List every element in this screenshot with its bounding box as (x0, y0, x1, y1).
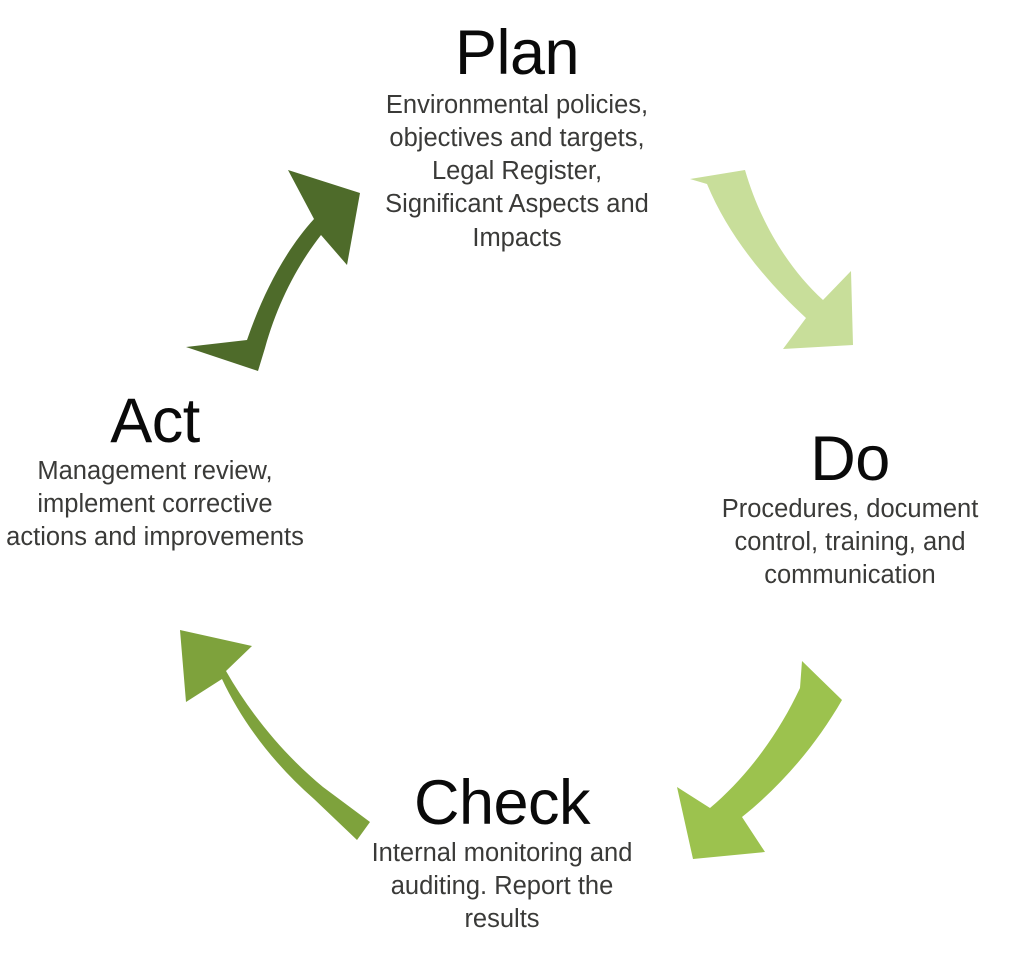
stage-do: Do Procedures, document control, trainin… (700, 428, 1000, 592)
stage-act-title: Act (6, 390, 304, 453)
stage-check-description: Internal monitoring and auditing. Report… (352, 837, 652, 936)
stage-do-title: Do (700, 428, 1000, 491)
stage-check-title: Check (352, 772, 652, 835)
arrow-act-to-plan (186, 170, 360, 371)
stage-act: Act Management review, implement correct… (6, 390, 304, 554)
arrow-do-to-check (677, 661, 842, 859)
stage-do-description: Procedures, document control, training, … (700, 493, 1000, 592)
arrow-plan-to-do (690, 170, 853, 349)
stage-plan-description: Environmental policies, objectives and t… (372, 89, 662, 255)
stage-act-description: Management review, implement corrective … (6, 455, 304, 554)
stage-plan-title: Plan (372, 22, 662, 85)
stage-check: Check Internal monitoring and auditing. … (352, 772, 652, 936)
stage-plan: Plan Environmental policies, objectives … (372, 22, 662, 255)
arrow-check-to-act (180, 630, 370, 840)
pdca-diagram: Plan Environmental policies, objectives … (0, 0, 1024, 954)
